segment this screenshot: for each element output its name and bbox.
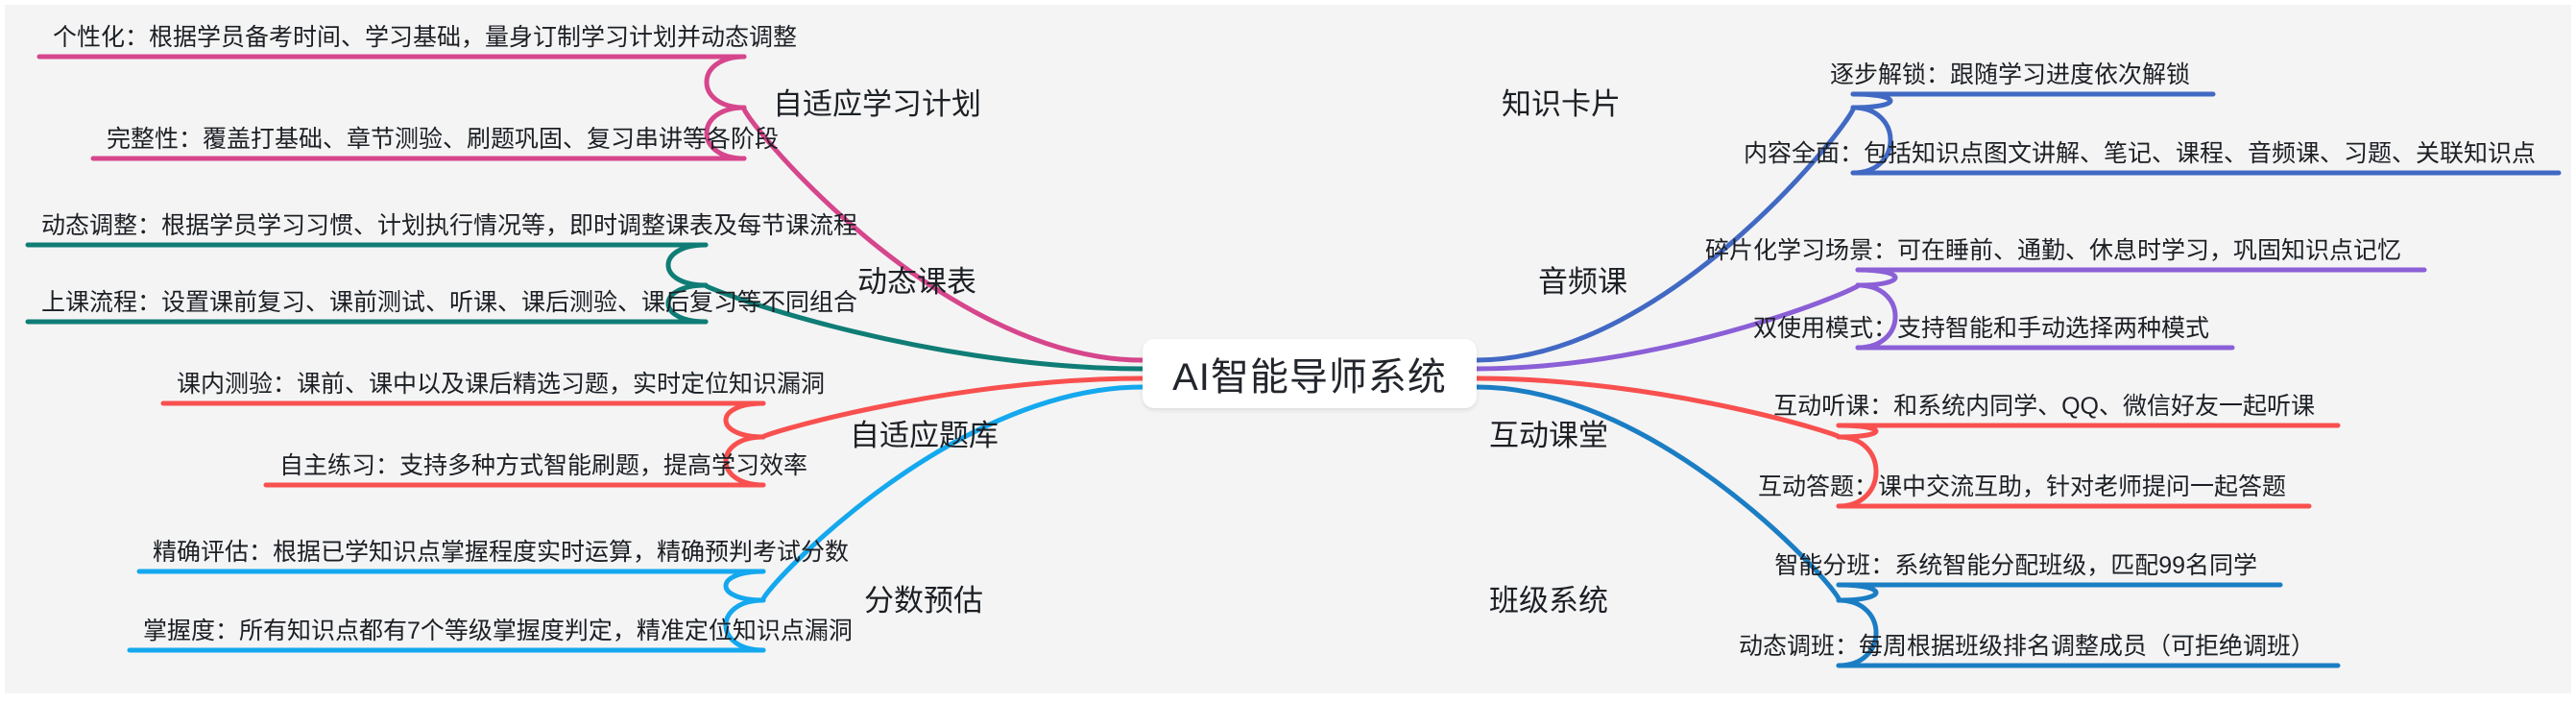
leaf-label-right-1-1[interactable]: 双使用模式：支持智能和手动选择两种模式 [1753,309,2209,344]
branch-label-left-1[interactable]: 动态课表 [857,257,976,301]
center-node[interactable]: AI智能导师系统 [1143,339,1477,408]
leaf-label-right-0-0[interactable]: 逐步解锁：跟随学习进度依次解锁 [1830,56,2190,90]
leaf-label-right-2-0[interactable]: 互动听课：和系统内同学、QQ、微信好友一起听课 [1773,387,2315,422]
leaf-label-left-2-0[interactable]: 课内测验：课前、课中以及课后精选习题，实时定位知识漏洞 [177,365,825,400]
branch-label-right-0[interactable]: 知识卡片 [1502,80,1621,123]
branch-label-right-3[interactable]: 班级系统 [1489,576,1608,619]
mindmap-canvas: AI智能导师系统 个性化：根据学员备考时间、学习基础，量身订制学习计划并动态调整… [0,0,2576,698]
leaf-label-right-2-1[interactable]: 互动答题：课中交流互助，针对老师提问一起答题 [1758,468,2286,502]
leaf-label-right-0-1[interactable]: 内容全面：包括知识点图文讲解、笔记、课程、音频课、习题、关联知识点 [1744,134,2536,169]
leaf-label-left-0-0[interactable]: 个性化：根据学员备考时间、学习基础，量身订制学习计划并动态调整 [53,18,797,53]
center-node-label: AI智能导师系统 [1172,346,1447,401]
leaf-label-right-1-0[interactable]: 碎片化学习场景：可在睡前、通勤、休息时学习，巩固知识点记忆 [1705,231,2401,266]
leaf-label-left-3-0[interactable]: 精确评估：根据已学知识点掌握程度实时运算，精确预判考试分数 [153,533,849,568]
leaf-label-right-3-1[interactable]: 动态调班：每周根据班级排名调整成员（可拒绝调班） [1739,627,2315,662]
leaf-label-left-1-1[interactable]: 上课流程：设置课前复习、课前测试、听课、课后测验、课后复习等不同组合 [41,283,857,318]
branch-label-left-3[interactable]: 分数预估 [864,576,983,619]
leaf-label-left-3-1[interactable]: 掌握度：所有知识点都有7个等级掌握度判定，精准定位知识点漏洞 [143,612,853,646]
branch-label-right-2[interactable]: 互动课堂 [1489,411,1608,454]
branch-label-left-0[interactable]: 自适应学习计划 [773,80,981,123]
leaf-label-right-3-0[interactable]: 智能分班：系统智能分配班级，匹配99名同学 [1774,546,2257,581]
branch-label-left-2[interactable]: 自适应题库 [850,411,999,454]
leaf-label-left-2-1[interactable]: 自主练习：支持多种方式智能刷题，提高学习效率 [279,447,807,481]
branch-label-right-1[interactable]: 音频课 [1538,257,1627,301]
leaf-label-left-1-0[interactable]: 动态调整：根据学员学习习惯、计划执行情况等，即时调整课表及每节课流程 [41,206,857,241]
leaf-label-left-0-1[interactable]: 完整性：覆盖打基础、章节测验、刷题巩固、复习串讲等各阶段 [107,120,779,155]
